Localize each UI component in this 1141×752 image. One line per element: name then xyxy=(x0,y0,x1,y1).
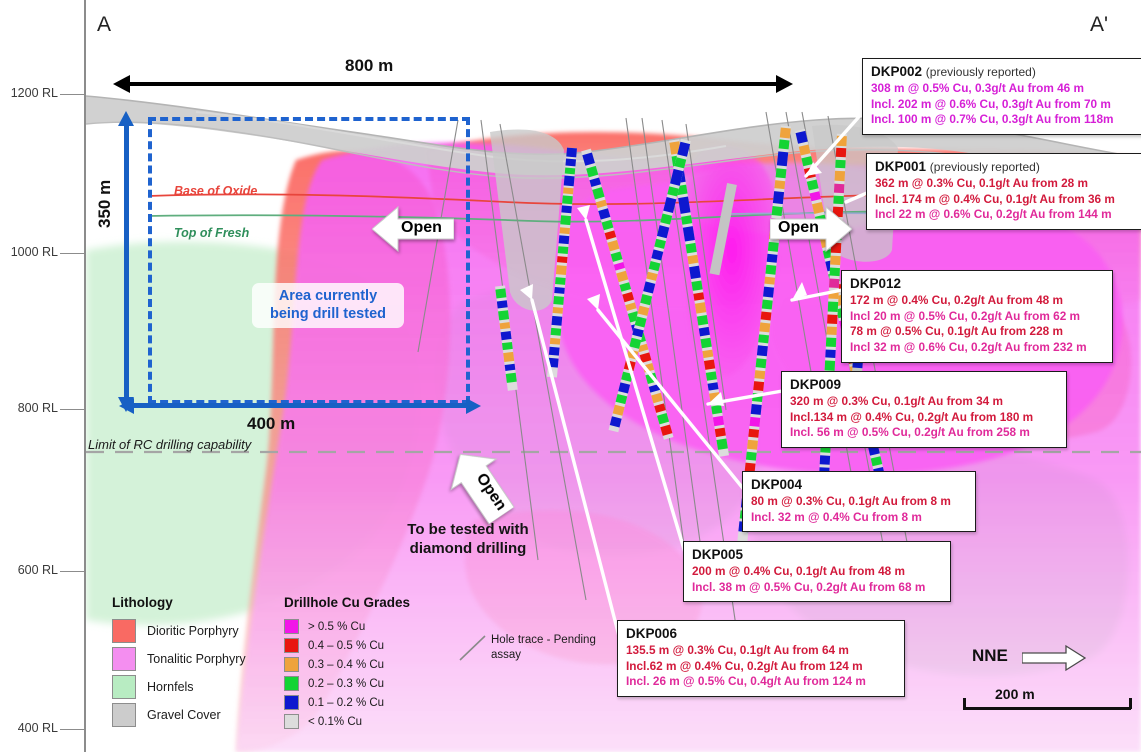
callout-dkp004[interactable]: DKP004 80 m @ 0.3% Cu, 0.1g/t Au from 8 … xyxy=(742,471,976,532)
legend-label: 0.1 – 0.2 % Cu xyxy=(308,697,384,709)
top-of-fresh-label: Top of Fresh xyxy=(174,226,249,240)
box-width-dimension-label: 400 m xyxy=(247,414,295,434)
height-dimension-label: 350 m xyxy=(95,180,115,228)
hole-id: DKP001 xyxy=(875,159,926,174)
intercept-line: Incl. 100 m @ 0.7% Cu, 0.3g/t Au from 11… xyxy=(871,112,1139,128)
intercept-line: Incl 32 m @ 0.6% Cu, 0.2g/t Au from 232 … xyxy=(850,340,1104,356)
legend-item: Gravel Cover xyxy=(112,703,284,727)
intercept-line: Incl. 38 m @ 0.5% Cu, 0.2g/t Au from 68 … xyxy=(692,580,942,596)
swatch-hornfels xyxy=(112,675,136,699)
intercept-line: Incl. 26 m @ 0.5% Cu, 0.4g/t Au from 124… xyxy=(626,674,896,690)
legend-item: Tonalitic Porphyry xyxy=(112,647,284,671)
callout-dkp012[interactable]: DKP012 172 m @ 0.4% Cu, 0.2g/t Au from 4… xyxy=(841,270,1113,363)
legend-item: < 0.1% Cu xyxy=(284,714,439,729)
swatch-tonalitic-porphyry xyxy=(112,647,136,671)
swatch-0-4-0-5-cu xyxy=(284,638,299,653)
intercept-line: Incl.134 m @ 0.4% Cu, 0.2g/t Au from 180… xyxy=(790,410,1058,426)
swatch-0-1-0-2-cu xyxy=(284,695,299,710)
intercept-line: 80 m @ 0.3% Cu, 0.1g/t Au from 8 m xyxy=(751,494,967,510)
legend-item: 0.1 – 0.2 % Cu xyxy=(284,695,439,710)
base-of-oxide-label: Base of Oxide xyxy=(174,184,257,198)
callout-dkp005[interactable]: DKP005 200 m @ 0.4% Cu, 0.1g/t Au from 4… xyxy=(683,541,951,602)
hole-trace-icon xyxy=(457,633,491,663)
open-arrow-left: Open xyxy=(372,203,454,255)
intercept-line: Incl. 202 m @ 0.6% Cu, 0.3g/t Au from 70… xyxy=(871,97,1139,113)
legend: Lithology Dioritic Porphyry Tonalitic Po… xyxy=(112,595,599,733)
cross-section-figure: 1200 RL 1000 RL 800 RL 600 RL 400 RL A A… xyxy=(0,0,1141,752)
legend-label: 0.2 – 0.3 % Cu xyxy=(308,678,384,690)
scale-bar-cap-right xyxy=(1129,698,1132,709)
intercept-line: Incl. 32 m @ 0.4% Cu from 8 m xyxy=(751,510,967,526)
drill-tested-area-box xyxy=(148,117,470,404)
hole-id: DKP005 xyxy=(692,547,743,562)
arrow-left-head xyxy=(113,75,130,93)
legend-item: Hornfels xyxy=(112,675,284,699)
intercept-line: 308 m @ 0.5% Cu, 0.3g/t Au from 46 m xyxy=(871,81,1139,97)
intercept-line: Incl. 56 m @ 0.5% Cu, 0.2g/t Au from 258… xyxy=(790,425,1058,441)
swatch-lt-0-1-cu xyxy=(284,714,299,729)
legend-label: < 0.1% Cu xyxy=(308,716,362,728)
legend-grades-title: Drillhole Cu Grades xyxy=(284,595,439,610)
callout-dkp009[interactable]: DKP009 320 m @ 0.3% Cu, 0.1g/t Au from 3… xyxy=(781,371,1067,448)
legend-label: > 0.5 % Cu xyxy=(308,621,365,633)
hole-id: DKP004 xyxy=(751,477,802,492)
swatch-gt-0-5-cu xyxy=(284,619,299,634)
rc-limit-label: Limit of RC drilling capability xyxy=(88,437,251,452)
legend-label: 0.3 – 0.4 % Cu xyxy=(308,659,384,671)
intercept-line: Incl 20 m @ 0.5% Cu, 0.2g/t Au from 62 m xyxy=(850,309,1104,325)
intercept-line: 135.5 m @ 0.3% Cu, 0.1g/t Au from 64 m xyxy=(626,643,896,659)
legend-label: Dioritic Porphyry xyxy=(147,624,239,638)
swatch-0-2-0-3-cu xyxy=(284,676,299,691)
callout-title: DKP006 xyxy=(626,626,896,641)
callout-title: DKP001 (previously reported) xyxy=(875,159,1139,174)
axis-tick xyxy=(60,94,86,95)
orientation-label: NNE xyxy=(972,646,1008,666)
hole-id: DKP009 xyxy=(790,377,841,392)
drill-tested-note: Area currently being drill tested xyxy=(252,283,404,328)
legend-item: 0.3 – 0.4 % Cu xyxy=(284,657,439,672)
legend-hole-trace: Hole trace - Pending assay xyxy=(457,633,599,663)
open-label-left: Open xyxy=(401,219,442,237)
arrow-up-head xyxy=(118,111,134,126)
open-arrow-right: Open xyxy=(770,203,852,255)
callout-dkp002[interactable]: DKP002 (previously reported) 308 m @ 0.5… xyxy=(862,58,1141,135)
section-label-a: A xyxy=(97,13,111,37)
orientation-arrow-icon xyxy=(1022,644,1086,677)
intercept-line: 172 m @ 0.4% Cu, 0.2g/t Au from 48 m xyxy=(850,293,1104,309)
intercept-line: Incl. 174 m @ 0.4% Cu, 0.1g/t Au from 36… xyxy=(875,192,1139,208)
depth-axis xyxy=(84,0,86,752)
callout-dkp006[interactable]: DKP006 135.5 m @ 0.3% Cu, 0.1g/t Au from… xyxy=(617,620,905,697)
callout-title: DKP005 xyxy=(692,547,942,562)
swatch-0-3-0-4-cu xyxy=(284,657,299,672)
open-label-right: Open xyxy=(778,219,819,237)
legend-item: 0.2 – 0.3 % Cu xyxy=(284,676,439,691)
scale-bar-label: 200 m xyxy=(995,686,1035,702)
axis-tick xyxy=(60,729,86,730)
width-dimension-bar xyxy=(128,82,776,86)
intercept-line: 320 m @ 0.3% Cu, 0.1g/t Au from 34 m xyxy=(790,394,1058,410)
axis-tick xyxy=(60,571,86,572)
intercept-line: Incl.62 m @ 0.4% Cu, 0.2g/t Au from 124 … xyxy=(626,659,896,675)
axis-tick xyxy=(60,253,86,254)
intercept-line: 78 m @ 0.5% Cu, 0.1g/t Au from 228 m xyxy=(850,324,1104,340)
legend-item: 0.4 – 0.5 % Cu xyxy=(284,638,439,653)
hole-note: (previously reported) xyxy=(926,65,1036,79)
width-dimension-label: 800 m xyxy=(345,56,393,76)
legend-label: Gravel Cover xyxy=(147,708,221,722)
arrow-left-head-2 xyxy=(119,398,134,414)
swatch-dioritic-porphyry xyxy=(112,619,136,643)
legend-label: Hornfels xyxy=(147,680,194,694)
intercept-line: Incl 22 m @ 0.6% Cu, 0.2g/t Au from 144 … xyxy=(875,207,1139,223)
scale-bar-cap-left xyxy=(963,698,966,709)
axis-label-800rl: 800 RL xyxy=(0,401,58,415)
arrow-right-head xyxy=(776,75,793,93)
legend-label: Tonalitic Porphyry xyxy=(147,652,246,666)
legend-item: Dioritic Porphyry xyxy=(112,619,284,643)
legend-grades: Drillhole Cu Grades > 0.5 % Cu 0.4 – 0.5… xyxy=(284,595,439,733)
height-dimension-bar xyxy=(124,122,129,405)
axis-label-400rl: 400 RL xyxy=(0,721,58,735)
hole-note: (previously reported) xyxy=(930,160,1040,174)
callout-title: DKP004 xyxy=(751,477,967,492)
axis-label-600rl: 600 RL xyxy=(0,563,58,577)
intercept-line: 200 m @ 0.4% Cu, 0.1g/t Au from 48 m xyxy=(692,564,942,580)
callout-title: DKP009 xyxy=(790,377,1058,392)
legend-lithology-title: Lithology xyxy=(112,595,284,610)
arrow-right-head-2 xyxy=(466,398,481,414)
legend-label: Hole trace - Pending assay xyxy=(491,633,599,663)
hole-id: DKP002 xyxy=(871,64,922,79)
legend-item: > 0.5 % Cu xyxy=(284,619,439,634)
section-label-a-prime: A' xyxy=(1090,13,1108,37)
callout-title: DKP002 (previously reported) xyxy=(871,64,1139,79)
legend-label: 0.4 – 0.5 % Cu xyxy=(308,640,384,652)
axis-label-1000rl: 1000 RL xyxy=(0,245,58,259)
legend-lithology: Lithology Dioritic Porphyry Tonalitic Po… xyxy=(112,595,284,731)
callout-dkp001[interactable]: DKP001 (previously reported) 362 m @ 0.3… xyxy=(866,153,1141,230)
axis-tick xyxy=(60,409,86,410)
box-width-dimension-bar xyxy=(132,403,469,408)
hole-id: DKP006 xyxy=(626,626,677,641)
swatch-gravel-cover xyxy=(112,703,136,727)
axis-label-1200rl: 1200 RL xyxy=(0,86,58,100)
callout-title: DKP012 xyxy=(850,276,1104,291)
intercept-line: 362 m @ 0.3% Cu, 0.1g/t Au from 28 m xyxy=(875,176,1139,192)
hole-id: DKP012 xyxy=(850,276,901,291)
scale-bar xyxy=(963,707,1131,710)
